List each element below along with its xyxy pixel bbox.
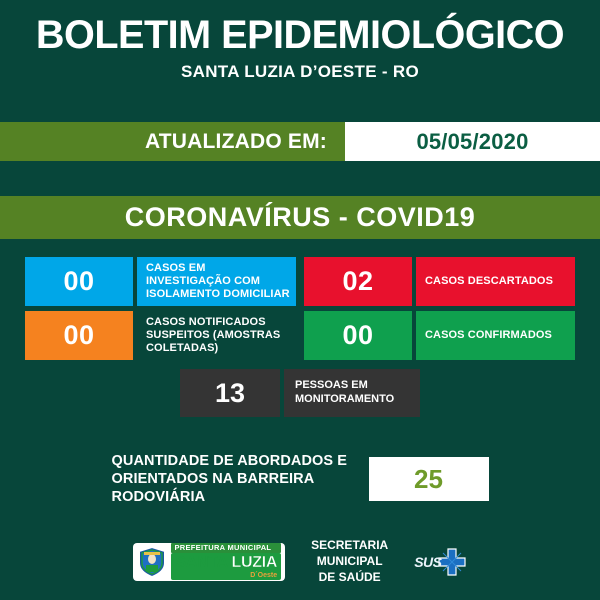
stat-value: 00: [304, 311, 412, 360]
stats-row-1: 00 CASOS EM INVESTIGAÇÃO COM ISOLAMENTO …: [0, 257, 600, 306]
secretaria-line-3: DE SAÚDE: [311, 570, 388, 586]
health-department-label: SECRETARIA MUNICIPAL DE SAÚDE: [311, 538, 388, 585]
city-hall-logo: PREFEITURA MUNICIPAL SANTA LUZIA D´Oeste: [133, 543, 285, 581]
stat-value: 00: [25, 311, 133, 360]
updated-bar: ATUALIZADO EM: 05/05/2020: [0, 122, 600, 161]
stat-label: CASOS CONFIRMADOS: [416, 311, 575, 360]
stat-label: CASOS EM INVESTIGAÇÃO COM ISOLAMENTO DOM…: [137, 257, 296, 306]
updated-date-box: 05/05/2020: [345, 122, 600, 161]
stat-label: CASOS DESCARTADOS: [416, 257, 575, 306]
city-logo-top-text: PREFEITURA MUNICIPAL: [171, 543, 281, 553]
secretaria-line-1: SECRETARIA: [311, 538, 388, 554]
secretaria-line-2: MUNICIPAL: [311, 554, 388, 570]
updated-date: 05/05/2020: [416, 129, 528, 155]
stats-row-3: 13 PESSOAS EM MONITORAMENTO: [0, 369, 600, 417]
stat-cases-confirmed: 00 CASOS CONFIRMADOS: [304, 311, 575, 360]
stat-cases-discarded: 02 CASOS DESCARTADOS: [304, 257, 575, 306]
footer: PREFEITURA MUNICIPAL SANTA LUZIA D´Oeste…: [0, 538, 600, 585]
city-logo-text: PREFEITURA MUNICIPAL SANTA LUZIA D´Oeste: [169, 543, 281, 580]
stat-value: 02: [304, 257, 412, 306]
coronavirus-band: CORONAVÍRUS - COVID19: [0, 196, 600, 239]
roadblock-value: 25: [414, 464, 443, 495]
stat-label: CASOS NOTIFICADOS SUSPEITOS (AMOSTRAS CO…: [137, 311, 296, 360]
stat-value: 00: [25, 257, 133, 306]
stat-people-monitored: 13 PESSOAS EM MONITORAMENTO: [180, 369, 420, 417]
city-logo-main-wrap: SANTA LUZIA D´Oeste: [171, 553, 281, 580]
roadblock-value-box: 25: [369, 457, 489, 501]
page-title: BOLETIM EPIDEMIOLÓGICO: [3, 14, 597, 56]
city-logo-main-text: SANTA LUZIA: [175, 555, 277, 571]
city-logo-sub-text: D´Oeste: [175, 572, 277, 579]
stats-row-2: 00 CASOS NOTIFICADOS SUSPEITOS (AMOSTRAS…: [0, 311, 600, 360]
updated-label: ATUALIZADO EM:: [145, 130, 327, 154]
city-logo-main-part1: SANTA: [175, 554, 227, 571]
stat-label: PESSOAS EM MONITORAMENTO: [284, 369, 420, 417]
sus-logo-text: SUS: [414, 554, 441, 570]
roadblock-label: QUANTIDADE DE ABORDADOS E ORIENTADOS NA …: [112, 452, 369, 506]
updated-label-box: ATUALIZADO EM:: [0, 122, 345, 161]
coronavirus-band-text: CORONAVÍRUS - COVID19: [125, 202, 476, 233]
page-subtitle: SANTA LUZIA D’OESTE - RO: [0, 62, 600, 82]
coat-of-arms-crest-icon: [135, 545, 169, 579]
stat-cases-under-investigation-home-isolation: 00 CASOS EM INVESTIGAÇÃO COM ISOLAMENTO …: [25, 257, 296, 306]
statistics-grid: 00 CASOS EM INVESTIGAÇÃO COM ISOLAMENTO …: [0, 257, 600, 417]
bulletin-header: BOLETIM EPIDEMIOLÓGICO SANTA LUZIA D’OES…: [0, 0, 600, 82]
stat-value: 13: [180, 369, 280, 417]
stat-cases-notified-suspected: 00 CASOS NOTIFICADOS SUSPEITOS (AMOSTRAS…: [25, 311, 296, 360]
roadblock-section: QUANTIDADE DE ABORDADOS E ORIENTADOS NA …: [0, 452, 600, 506]
sus-logo: SUS: [414, 545, 466, 579]
city-logo-main-part2: LUZIA: [231, 554, 277, 571]
